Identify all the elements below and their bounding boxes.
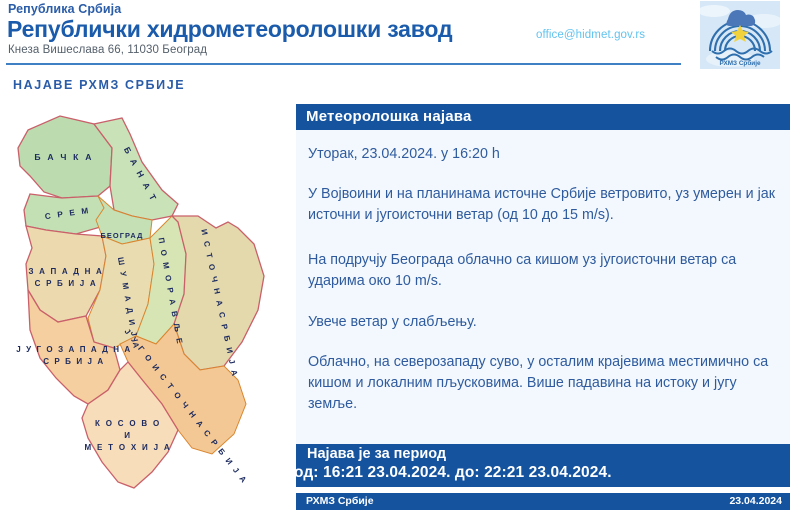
- panel-footer-bar: РХМЗ Србије 23.04.2024: [296, 493, 790, 510]
- forecast-paragraph-beograd: На подручју Београда облачно са кишом уз…: [308, 250, 776, 292]
- forecast-paragraph-evening: Увече ветар у слабљењу.: [308, 312, 776, 333]
- forecast-period-label: Најава је за период: [307, 446, 446, 462]
- map-label-zapadna-srbija: З А П А Д Н А: [28, 267, 103, 276]
- logo-text: РХМЗ Србије: [719, 59, 761, 67]
- institute-title: Републички хидрометеоролошки завод: [7, 17, 452, 42]
- forecast-paragraph-vojvodina: У Војвоини и на планинама источне Србије…: [308, 184, 776, 226]
- header-divider: [6, 63, 681, 65]
- forecast-period-bar: Најава је за период од: 16:21 23.04.2024…: [296, 444, 790, 487]
- republic-label: Република Србија: [8, 2, 121, 16]
- rhmz-logo: РХМЗ Србије: [700, 1, 780, 69]
- forecast-panel: Метеоролошка најава Уторак, 23.04.2024. …: [296, 104, 790, 509]
- institute-address: Кнеза Вишеслава 66, 11030 Београд: [8, 44, 207, 56]
- forecast-panel-title: Метеоролошка најава: [306, 108, 472, 125]
- forecast-timestamp: Уторак, 23.04.2024. у 16:20 h: [308, 144, 776, 165]
- map-label-jugozapadna-srbija-line2: С Р Б И Ј А: [43, 357, 105, 366]
- map-label-beograd: БЕОГРАД: [100, 231, 143, 240]
- map-label-backa: Б А Ч К А: [34, 152, 93, 162]
- contact-email-link[interactable]: office@hidmet.gov.rs: [536, 29, 645, 41]
- page-header: Република Србија Републички хидрометеоро…: [0, 0, 790, 70]
- serbia-map-svg: Б А Ч К А Б А Н А Т С Р Е М БЕОГРАД З А …: [2, 104, 290, 502]
- map-label-kosovo: К О С О В О: [95, 419, 161, 428]
- map-label-kosovo-line2: И: [124, 431, 132, 440]
- forecast-panel-body: Уторак, 23.04.2024. у 16:20 h У Војвоини…: [296, 130, 790, 444]
- map-label-zapadna-srbija-line2: С Р Б И Ј А: [35, 279, 98, 288]
- map-label-metohija: М Е Т О Х И Ј А: [85, 443, 172, 452]
- forecast-period-range: од: 16:21 23.04.2024. до: 22:21 23.04.20…: [294, 464, 612, 482]
- logo-emblem-icon: РХМЗ Србије: [700, 1, 780, 69]
- serbia-region-map: Б А Ч К А Б А Н А Т С Р Е М БЕОГРАД З А …: [2, 104, 290, 502]
- page-section-title: НАЈАВЕ РХМЗ СРБИЈЕ: [13, 78, 185, 92]
- panel-footer-date: 23.04.2024: [729, 495, 782, 507]
- panel-footer-source: РХМЗ Србије: [306, 495, 374, 507]
- forecast-paragraph-general: Облачно, на северозападу суво, у осталим…: [308, 352, 776, 415]
- map-label-jugozapadna-srbija: Ј У Г О З А П А Д Н А: [16, 345, 132, 354]
- forecast-panel-header: Метеоролошка најава: [296, 104, 790, 130]
